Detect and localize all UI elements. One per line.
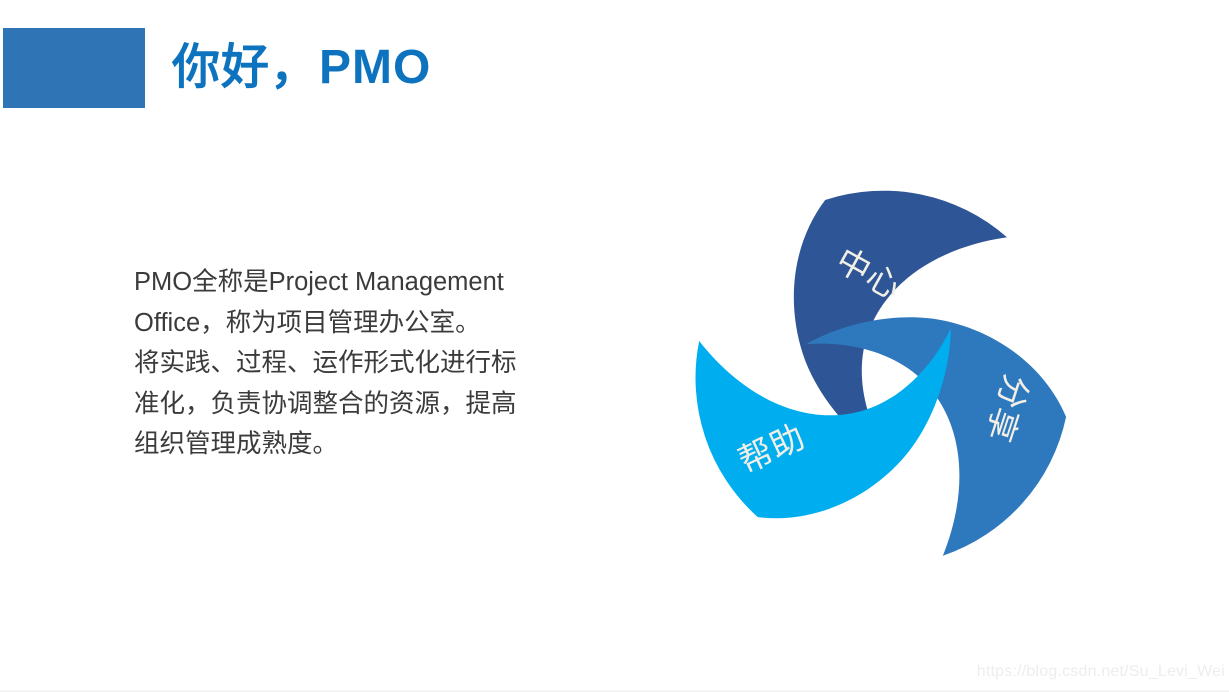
body-line: 将实践、过程、运作形式化进行标: [134, 343, 554, 384]
pinwheel-svg: 中心 分享 帮助: [692, 185, 1074, 571]
body-line: 组织管理成熟度。: [134, 424, 554, 465]
page-title: 你好，PMO: [172, 36, 431, 100]
presentation-slide: 你好，PMO PMO全称是Project Management Office，称…: [0, 0, 1229, 692]
body-line: Office，称为项目管理办公室。: [134, 303, 554, 344]
title-accent-block: [3, 28, 145, 108]
pinwheel-diagram: 中心 分享 帮助: [692, 185, 1074, 571]
watermark-text: https://blog.csdn.net/Su_Levi_Wei: [977, 663, 1225, 681]
body-line: 准化，负责协调整合的资源，提高: [134, 384, 554, 425]
body-text: PMO全称是Project Management Office，称为项目管理办公…: [134, 262, 554, 465]
body-line: PMO全称是Project Management: [134, 262, 554, 303]
